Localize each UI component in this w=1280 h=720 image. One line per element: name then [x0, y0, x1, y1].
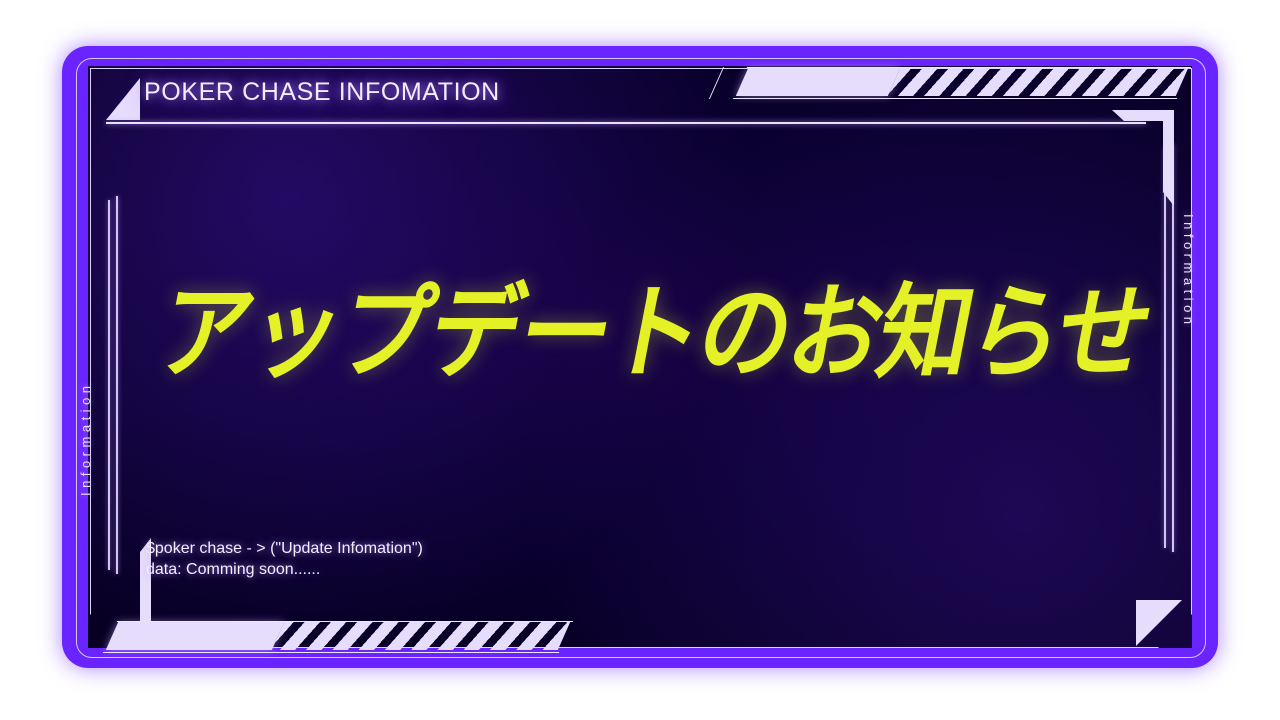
headline-text: アップデートのお知らせ	[149, 280, 1158, 388]
triangle-wedge-icon	[106, 78, 140, 120]
title-underline	[106, 122, 1146, 124]
side-label-right: Information	[1181, 214, 1196, 329]
diagonal-stripe-bar-icon-bottom	[106, 622, 570, 650]
console-block: $poker chase - > ("Update Infomation") d…	[146, 538, 423, 580]
rail-right-inner	[1172, 144, 1174, 552]
stripe-bar-solid-segment	[106, 622, 284, 650]
console-line-data: data: Comming soon......	[146, 559, 423, 580]
rail-left-outer	[108, 200, 110, 570]
stripe-bar-stripes	[888, 68, 1188, 96]
headline-container: アップデートのお知らせ	[160, 286, 1120, 383]
stripe-bar-solid-segment	[736, 68, 900, 96]
stripe-bar-stripes	[272, 622, 570, 650]
page-title: POKER CHASE INFOMATION	[144, 78, 500, 107]
rail-left-inner	[116, 196, 118, 574]
rail-right-outer	[1164, 148, 1166, 548]
side-label-left: Information	[78, 381, 93, 496]
console-line-command: $poker chase - > ("Update Infomation")	[146, 538, 423, 559]
screen-root: POKER CHASE INFOMATION Information Infor…	[0, 0, 1280, 720]
diagonal-stripe-bar-icon-top	[736, 68, 1188, 96]
